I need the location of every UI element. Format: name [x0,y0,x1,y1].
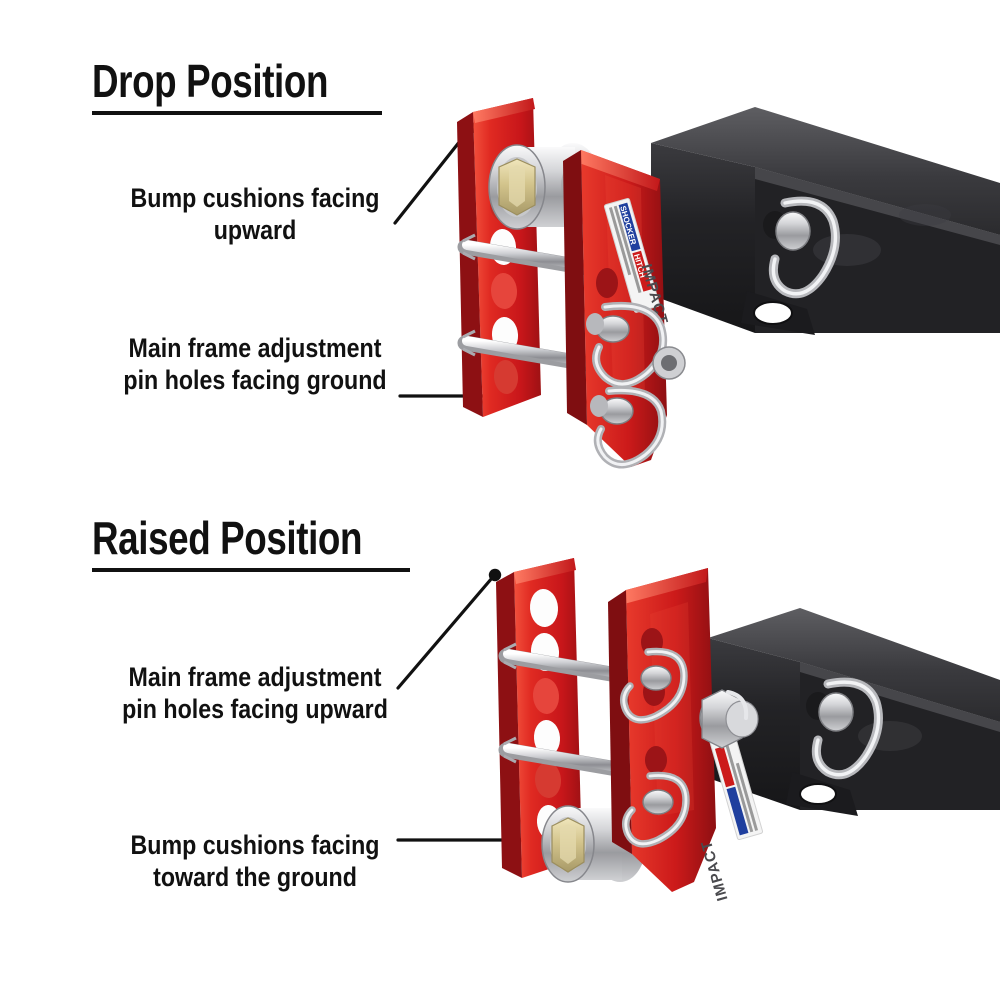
product-image-drop-position: SHOCKER HITCH IMPACT [455,95,1000,490]
product-image-raised-position: IMPACT [470,510,1000,930]
section-raised-position: Raised Position Main frame adjustment pi… [0,490,1000,990]
svg-text:IMPACT: IMPACT [698,838,732,903]
section-drop-position: Drop Position Bump cushions facing upwar… [0,0,1000,500]
hitch-shank-tube-drop [651,107,1000,335]
infographic-canvas: Drop Position Bump cushions facing upwar… [0,0,1000,1000]
brand-sticker-impact-raised: IMPACT [698,838,732,903]
